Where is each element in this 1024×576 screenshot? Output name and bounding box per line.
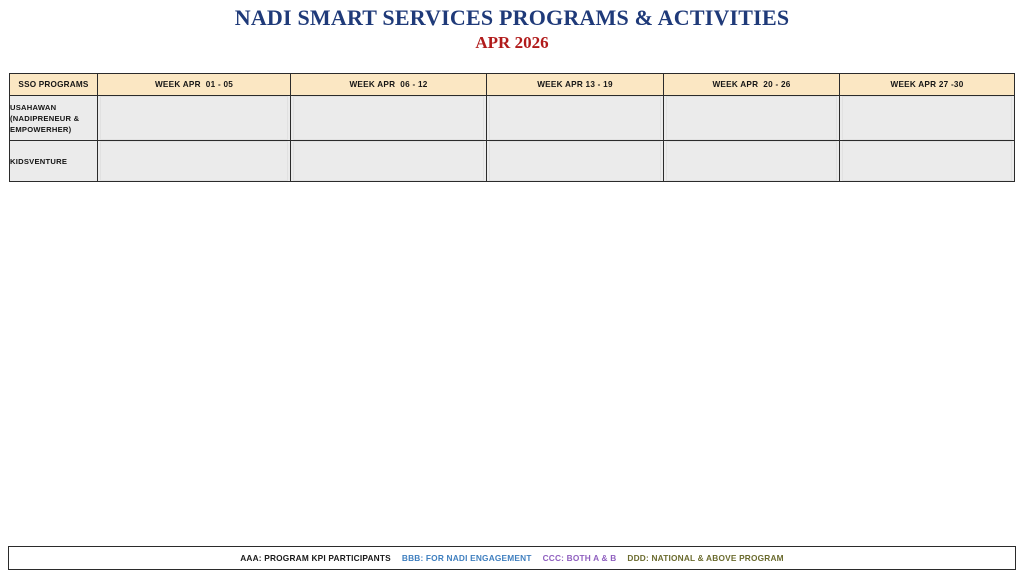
table-row: USAHAWAN (NADIPRENEUR & EMPOWERHER) <box>10 96 1015 141</box>
legend-bar: AAA: PROGRAM KPI PARTICIPANTS BBB: FOR N… <box>8 546 1016 570</box>
cell-content <box>842 141 1012 181</box>
legend-item-aaa: AAA: PROGRAM KPI PARTICIPANTS <box>240 553 391 563</box>
row-header-kidsventure: KIDSVENTURE <box>10 141 98 182</box>
schedule-cell-usahawan-week4[interactable] <box>664 96 840 141</box>
schedule-cell-kidsventure-week4[interactable] <box>664 141 840 182</box>
column-header-sso-programs: SSO PROGRAMS <box>10 74 98 96</box>
cell-content <box>100 96 288 140</box>
legend-item-ddd: DDD: NATIONAL & ABOVE PROGRAM <box>627 553 783 563</box>
cell-content <box>666 141 837 181</box>
column-header-week-apr-27-30: WEEK APR 27 -30 <box>840 74 1015 96</box>
page-title: NADI SMART SERVICES PROGRAMS & ACTIVITIE… <box>0 5 1024 31</box>
legend-item-bbb: BBB: FOR NADI ENGAGEMENT <box>402 553 532 563</box>
cell-content <box>293 141 484 181</box>
schedule-table-head: SSO PROGRAMS WEEK APR 01 - 05 WEEK APR 0… <box>10 74 1015 96</box>
schedule-cell-kidsventure-week3[interactable] <box>487 141 664 182</box>
schedule-cell-usahawan-week2[interactable] <box>291 96 487 141</box>
row-header-usahawan: USAHAWAN (NADIPRENEUR & EMPOWERHER) <box>10 96 98 141</box>
schedule-cell-usahawan-week3[interactable] <box>487 96 664 141</box>
schedule-table-container: SSO PROGRAMS WEEK APR 01 - 05 WEEK APR 0… <box>9 73 1014 182</box>
column-header-week-apr-01-05: WEEK APR 01 - 05 <box>98 74 291 96</box>
schedule-table: SSO PROGRAMS WEEK APR 01 - 05 WEEK APR 0… <box>9 73 1015 182</box>
row-header-line: EMPOWERHER) <box>10 124 97 135</box>
cell-content <box>842 96 1012 140</box>
cell-content <box>489 96 661 140</box>
cell-content <box>489 141 661 181</box>
column-header-week-apr-06-12: WEEK APR 06 - 12 <box>291 74 487 96</box>
page-header: NADI SMART SERVICES PROGRAMS & ACTIVITIE… <box>0 5 1024 54</box>
schedule-cell-usahawan-week1[interactable] <box>98 96 291 141</box>
cell-content <box>666 96 837 140</box>
cell-content <box>100 141 288 181</box>
schedule-cell-kidsventure-week1[interactable] <box>98 141 291 182</box>
row-header-line: USAHAWAN <box>10 102 97 113</box>
page-subtitle-month: APR 2026 <box>0 32 1024 54</box>
table-row: KIDSVENTURE <box>10 141 1015 182</box>
cell-content <box>293 96 484 140</box>
row-header-line: KIDSVENTURE <box>10 156 97 167</box>
column-header-week-apr-20-26: WEEK APR 20 - 26 <box>664 74 840 96</box>
table-header-row: SSO PROGRAMS WEEK APR 01 - 05 WEEK APR 0… <box>10 74 1015 96</box>
column-header-week-apr-13-19: WEEK APR 13 - 19 <box>487 74 664 96</box>
schedule-cell-kidsventure-week5[interactable] <box>840 141 1015 182</box>
legend-items: AAA: PROGRAM KPI PARTICIPANTS BBB: FOR N… <box>240 553 784 563</box>
row-header-line: (NADIPRENEUR & <box>10 113 97 124</box>
schedule-cell-kidsventure-week2[interactable] <box>291 141 487 182</box>
legend-item-ccc: CCC: BOTH A & B <box>543 553 617 563</box>
schedule-cell-usahawan-week5[interactable] <box>840 96 1015 141</box>
schedule-table-body: USAHAWAN (NADIPRENEUR & EMPOWERHER) <box>10 96 1015 182</box>
